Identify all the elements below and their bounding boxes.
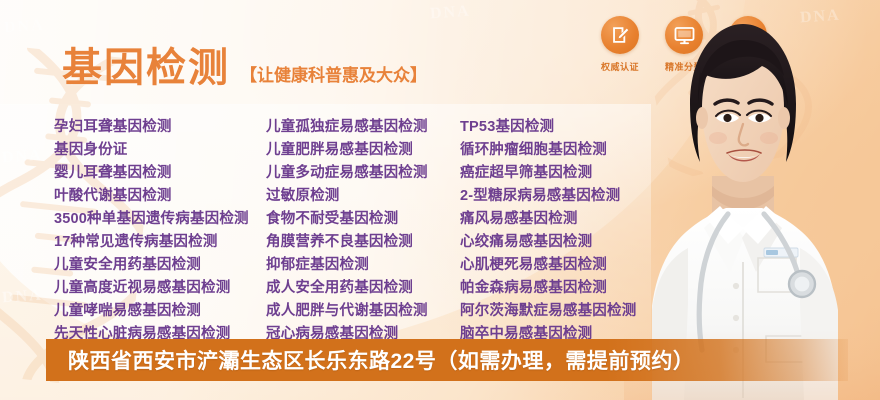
watermark-text: DNA xyxy=(429,3,471,24)
list-item[interactable]: 叶酸代谢基因检测 xyxy=(54,185,266,208)
page-subtitle: 【让健康科普惠及大众】 xyxy=(240,67,427,88)
watermark-text: DNA xyxy=(1,287,43,308)
test-list-columns: 孕妇耳聋基因检测 基因身份证 婴儿耳聋基因检测 叶酸代谢基因检测 3500种单基… xyxy=(54,116,680,346)
page-title: 基因检测 xyxy=(62,48,230,88)
list-item[interactable]: 3500种单基因遗传病基因检测 xyxy=(54,208,266,231)
watermark-text: DNA xyxy=(3,17,45,38)
test-list-column-1: 孕妇耳聋基因检测 基因身份证 婴儿耳聋基因检测 叶酸代谢基因检测 3500种单基… xyxy=(54,116,266,346)
test-list-column-2: 儿童孤独症易感基因检测 儿童肥胖易感基因检测 儿童多动症易感基因检测 过敏原检测… xyxy=(266,116,460,346)
poster-root: DNA DNA DNA DNA DNA 基因检测 【让健康科普惠及大众】 权威认… xyxy=(0,0,880,400)
address-banner: 陕西省西安市浐灞生态区长乐东路22号（如需办理，需提前预约） xyxy=(46,339,848,381)
list-item[interactable]: 儿童孤独症易感基因检测 xyxy=(266,116,460,139)
list-item[interactable]: 成人安全用药基因检测 xyxy=(266,277,460,300)
list-item[interactable]: 角膜营养不良基因检测 xyxy=(266,231,460,254)
list-item[interactable]: 儿童肥胖易感基因检测 xyxy=(266,139,460,162)
list-item[interactable]: 抑郁症基因检测 xyxy=(266,254,460,277)
list-item[interactable]: 成人肥胖与代谢基因检测 xyxy=(266,300,460,323)
list-item[interactable]: 基因身份证 xyxy=(54,139,266,162)
watermark-text: DNA xyxy=(1,147,43,168)
list-item[interactable]: 孕妇耳聋基因检测 xyxy=(54,116,266,139)
headline: 基因检测 【让健康科普惠及大众】 xyxy=(62,48,427,88)
list-item[interactable]: 17种常见遗传病基因检测 xyxy=(54,231,266,254)
list-item[interactable]: 儿童多动症易感基因检测 xyxy=(266,162,460,185)
address-text: 陕西省西安市浐灞生态区长乐东路22号（如需办理，需提前预约） xyxy=(68,345,694,375)
list-item[interactable]: 儿童安全用药基因检测 xyxy=(54,254,266,277)
list-item[interactable]: 过敏原检测 xyxy=(266,185,460,208)
list-item[interactable]: 儿童哮喘易感基因检测 xyxy=(54,300,266,323)
list-item[interactable]: 食物不耐受基因检测 xyxy=(266,208,460,231)
list-item[interactable]: 儿童高度近视易感基因检测 xyxy=(54,277,266,300)
list-item[interactable]: 婴儿耳聋基因检测 xyxy=(54,162,266,185)
